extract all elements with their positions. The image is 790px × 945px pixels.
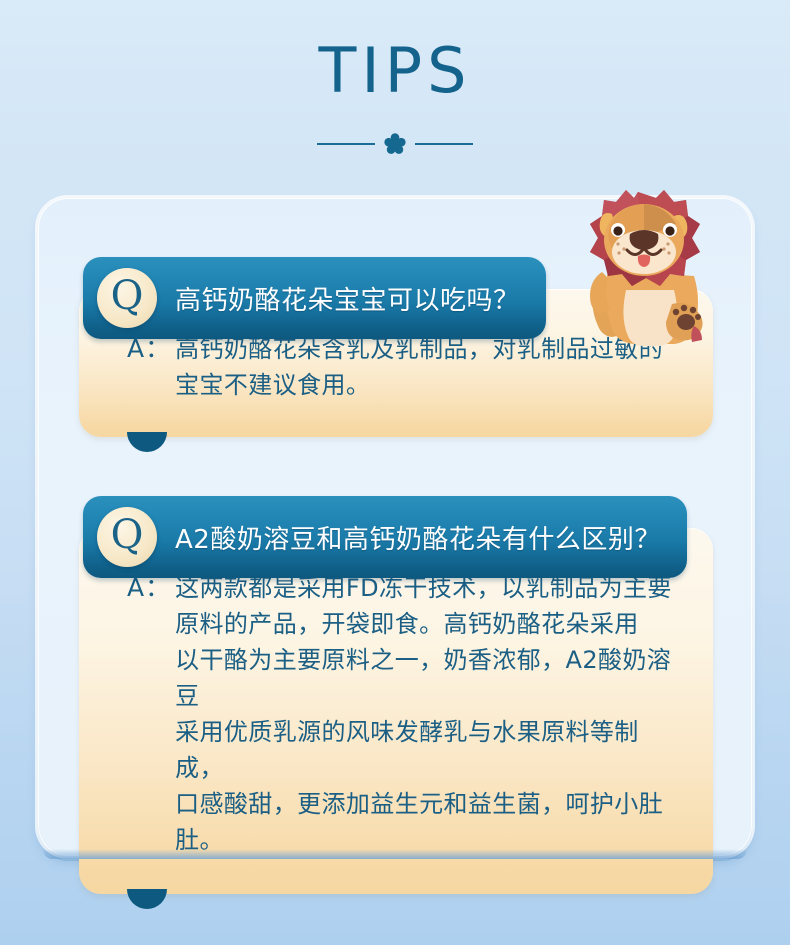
question-badge-1: Q <box>97 268 157 328</box>
answer-text-2: 这两款都是采用FD冻干技术，以乳制品为主要 原料的产品，开袋即食。高钙奶酪花朵采… <box>175 570 683 858</box>
page-title: TIPS <box>0 40 790 102</box>
title-divider <box>0 131 790 157</box>
question-bar-2[interactable]: Q A2酸奶溶豆和高钙奶酪花朵有什么区别？ <box>83 496 687 578</box>
answer-panel-2: A： 这两款都是采用FD冻干技术，以乳制品为主要 原料的产品，开袋即食。高钙奶酪… <box>79 528 713 894</box>
question-bar-1[interactable]: Q 高钙奶酪花朵宝宝可以吃吗？ <box>83 257 546 339</box>
faq-item-1: A： 高钙奶酪花朵含乳及乳制品，对乳制品过敏的 宝宝不建议食用。 Q 高钙奶酪花… <box>79 257 713 437</box>
question-badge-letter-1: Q <box>111 276 144 316</box>
question-bubble-tail-2 <box>127 889 167 909</box>
faq-item-2: A： 这两款都是采用FD冻干技术，以乳制品为主要 原料的产品，开袋即食。高钙奶酪… <box>79 496 713 894</box>
question-text-2: A2酸奶溶豆和高钙奶酪花朵有什么区别？ <box>175 519 661 556</box>
faq-card: A： 高钙奶酪花朵含乳及乳制品，对乳制品过敏的 宝宝不建议食用。 Q 高钙奶酪花… <box>38 198 752 856</box>
answer-text-1: 高钙奶酪花朵含乳及乳制品，对乳制品过敏的 宝宝不建议食用。 <box>175 331 663 403</box>
page-header: TIPS <box>0 0 790 185</box>
divider-line-right <box>415 143 473 145</box>
question-badge-letter-2: Q <box>111 515 144 555</box>
divider-line-left <box>317 143 375 145</box>
question-badge-2: Q <box>97 507 157 567</box>
tips-page: TIPS <box>0 0 790 945</box>
flower-icon <box>383 132 407 156</box>
question-text-1: 高钙奶酪花朵宝宝可以吃吗？ <box>175 280 520 317</box>
question-bubble-tail-1 <box>127 432 167 452</box>
